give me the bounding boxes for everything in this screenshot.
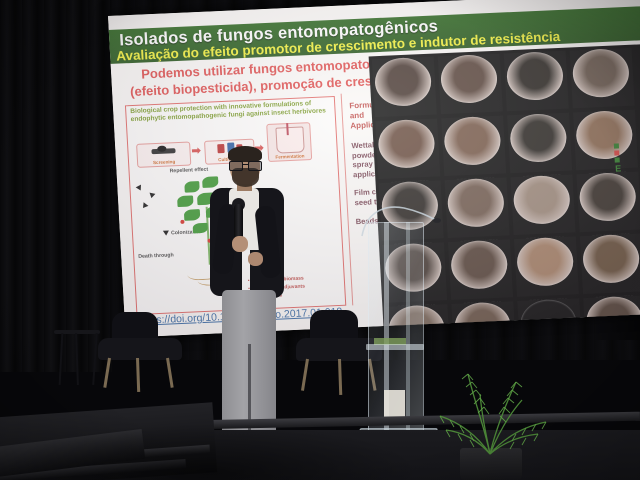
petri-dish bbox=[516, 237, 575, 287]
logo-text: E bbox=[615, 163, 640, 173]
petri-dish bbox=[509, 113, 568, 163]
petri-dish bbox=[572, 48, 631, 98]
petri-dish-cell: CEPAF_ENT25 bbox=[375, 118, 440, 179]
petri-dish-cell: CEPAF_ENT34 bbox=[510, 174, 575, 235]
petri-dish bbox=[377, 119, 436, 169]
petri-dish bbox=[447, 178, 506, 228]
plant-leaf bbox=[177, 195, 194, 207]
petri-dish-cell: CEPAF_ENT26 bbox=[441, 116, 506, 177]
petri-dish bbox=[578, 172, 637, 222]
petri-dish-cell bbox=[570, 48, 635, 109]
petri-dish-cell: CEPAF_ENT39 bbox=[576, 172, 640, 233]
petri-dish-cell: CEPAF_ENT50 bbox=[514, 236, 579, 297]
plant-fruit bbox=[180, 220, 184, 224]
flow-step-label: Screening bbox=[138, 158, 190, 165]
insect-icon bbox=[141, 202, 149, 210]
stage-curtain-left bbox=[0, 0, 112, 372]
figure-caption: Biological crop protection with innovati… bbox=[130, 99, 331, 125]
logo-square bbox=[614, 150, 619, 155]
glasses-icon bbox=[229, 161, 261, 169]
petri-dish-cell bbox=[372, 57, 437, 118]
insect-icon bbox=[163, 230, 169, 235]
petri-dish bbox=[506, 51, 565, 101]
petri-dish bbox=[582, 234, 640, 284]
petri-dish-cell bbox=[438, 54, 503, 115]
petri-dish bbox=[440, 54, 499, 104]
institution-logo: E bbox=[614, 142, 640, 173]
insect-icon bbox=[136, 185, 144, 192]
petri-dish bbox=[374, 57, 433, 107]
flow-step-screening: Screening bbox=[136, 141, 191, 167]
hair bbox=[228, 146, 262, 162]
petri-dish-cell: CEPAF_ENT27 bbox=[507, 113, 572, 174]
figure-note-death: Death through bbox=[138, 252, 174, 260]
petri-dish bbox=[450, 240, 509, 290]
petri-dish bbox=[443, 116, 502, 166]
logo-square bbox=[614, 143, 619, 148]
petri-dish bbox=[512, 175, 571, 225]
petri-dish-cell: CEPAF_ENT30 bbox=[445, 177, 510, 238]
hand bbox=[232, 236, 248, 252]
hand bbox=[248, 252, 263, 266]
conference-photo: Isolados de fungos entomopatogênicos Ava… bbox=[0, 0, 640, 480]
petri-dish-cell: CEPAF_ENT58 bbox=[580, 233, 640, 294]
floor-shadow bbox=[0, 352, 640, 480]
petri-dish-cell: CEPAF_ENT46 bbox=[448, 239, 513, 300]
petri-dish-cell bbox=[504, 51, 569, 112]
lectern-shelf bbox=[366, 344, 424, 350]
insect-icon bbox=[148, 193, 155, 199]
logo-square bbox=[615, 157, 620, 162]
